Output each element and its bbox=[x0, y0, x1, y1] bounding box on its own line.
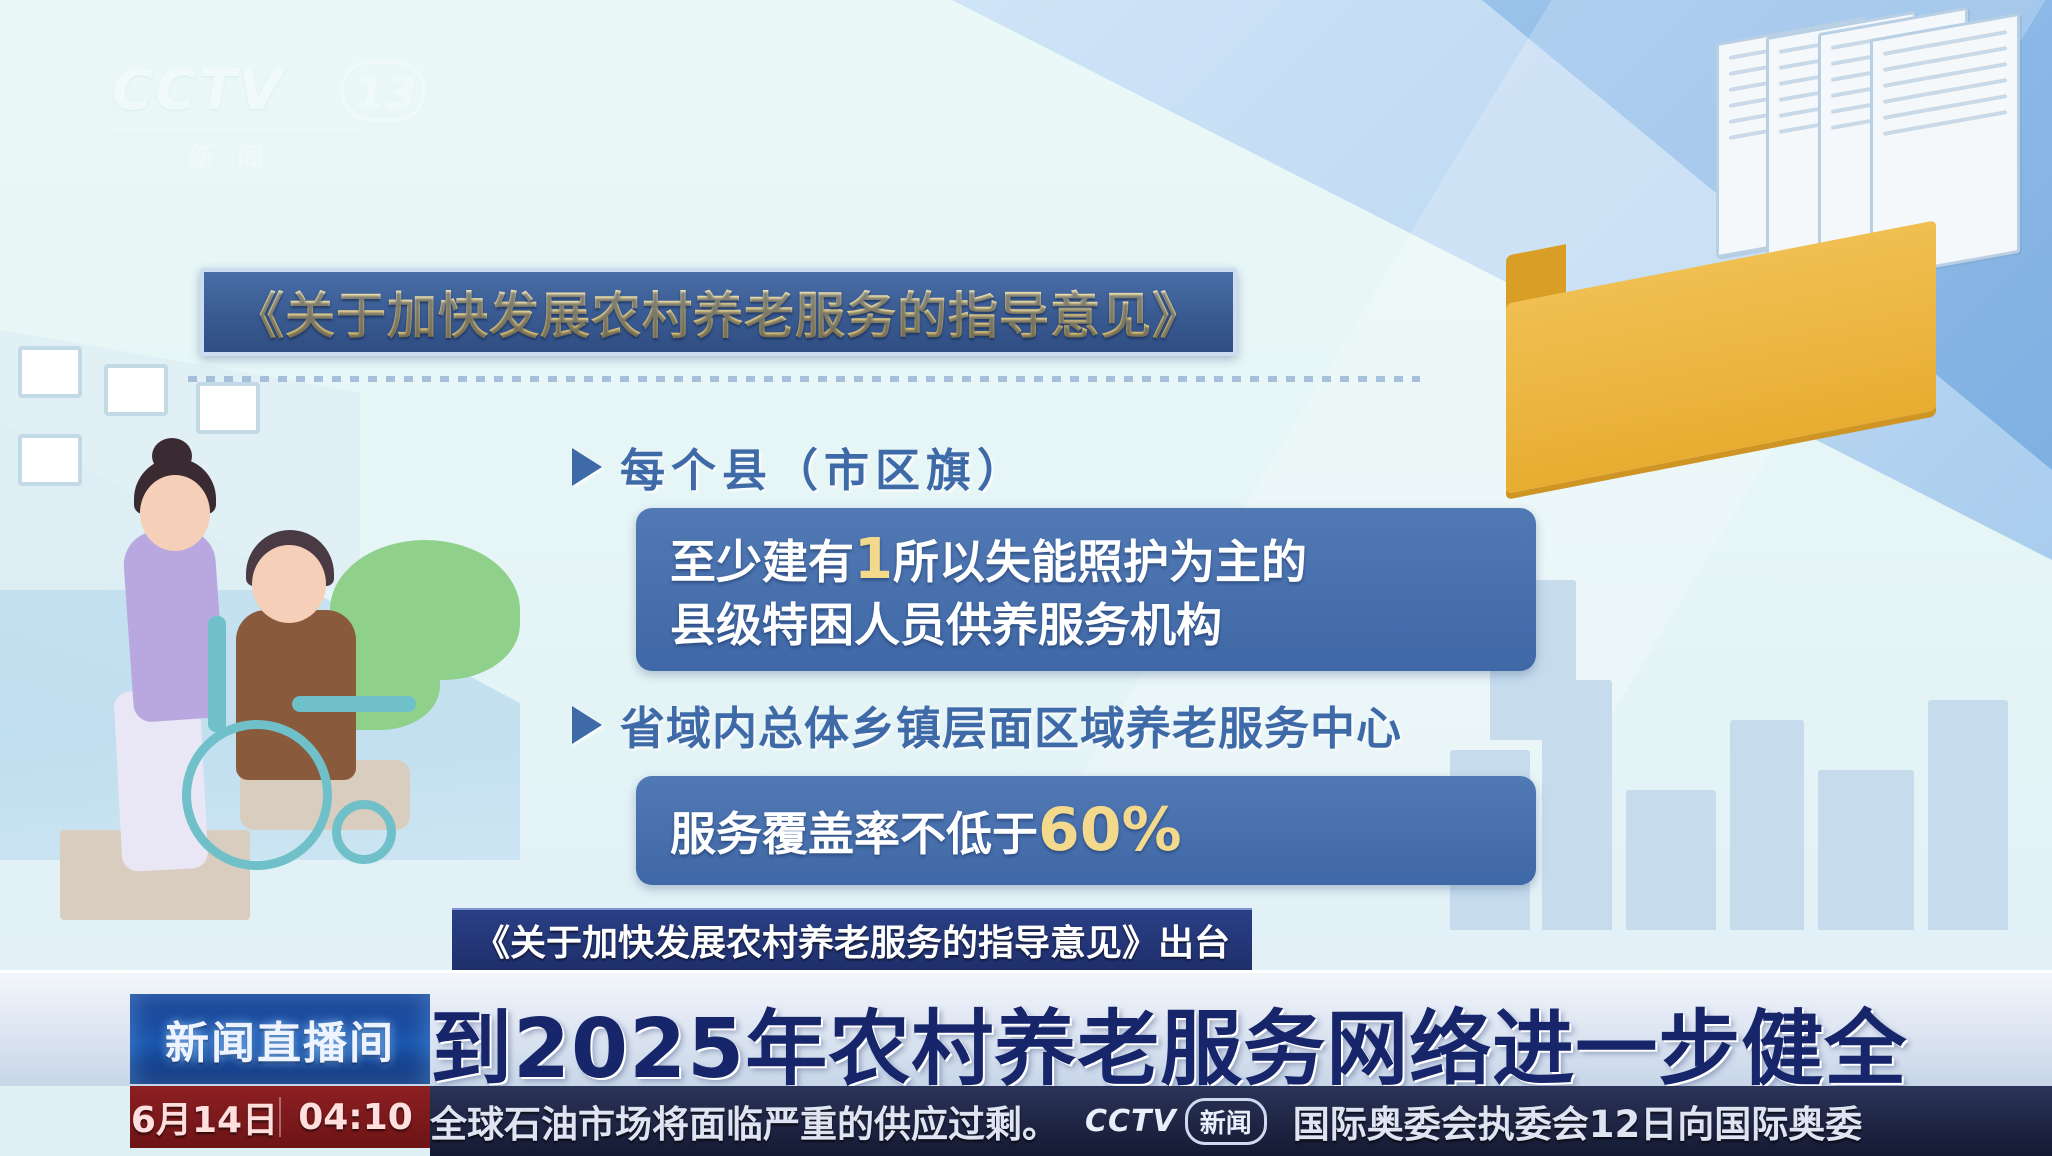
fact-line-1a: 至少建有1所以失能照护为主的 bbox=[670, 524, 1502, 596]
program-name-badge: 新闻直播间 bbox=[130, 994, 430, 1084]
watermark-channel-number: 13 bbox=[355, 68, 416, 119]
news-ticker-bar: 全球石油市场将面临严重的供应过剩。 CCTV 新闻 国际奥委会执委会12日向国际… bbox=[430, 1086, 2052, 1156]
triangle-right-icon bbox=[572, 706, 602, 744]
document-box-illustration bbox=[1466, 20, 2026, 490]
fact-box-2: 服务覆盖率不低于60% bbox=[636, 776, 1536, 885]
watermark-subtitle: 新闻 bbox=[112, 136, 362, 175]
wheelchair-wheel bbox=[182, 720, 332, 870]
lower-third-subheadline-bar: 《关于加快发展农村养老服务的指导意见》出台 bbox=[452, 908, 1252, 970]
broadcast-screenshot: CCTV 13 新闻 《关于加快发展农村养老服务的指导意见》 每个县（市区旗） … bbox=[0, 0, 2052, 1156]
skyline-group bbox=[1450, 600, 2050, 930]
bullet-label-1: 每个县（市区旗） bbox=[620, 434, 1028, 499]
watermark-underline bbox=[112, 127, 362, 131]
caregiver-hair-bun bbox=[152, 438, 192, 474]
bullet-row-1: 每个县（市区旗） bbox=[572, 434, 1028, 499]
ticker-item-2: 国际奥委会执委会12日向国际奥委 bbox=[1293, 1094, 1863, 1148]
picture-frame bbox=[18, 346, 82, 398]
city-building bbox=[1818, 770, 1914, 930]
title-dotted-divider bbox=[188, 376, 1420, 382]
broadcast-date: 6月14日 bbox=[130, 1091, 279, 1143]
fact-1b-text: 县级特困人员供养服务机构 bbox=[670, 598, 1222, 652]
fact-1a-pre: 至少建有 bbox=[670, 535, 854, 589]
ticker-logo-pill-text: 新闻 bbox=[1185, 1098, 1267, 1145]
wheelchair-handle bbox=[208, 616, 226, 732]
wheelchair-armrest bbox=[292, 696, 416, 712]
broadcast-time: 04:10 bbox=[281, 1097, 430, 1138]
bullet-row-2: 省域内总体乡镇层面区域养老服务中心 bbox=[572, 692, 1402, 757]
wheelchair-wheel-small bbox=[332, 800, 396, 864]
city-building bbox=[1730, 720, 1804, 930]
box-front-panel bbox=[1506, 220, 1936, 494]
picture-frame bbox=[18, 434, 82, 486]
ticker-logo-cctv-text: CCTV bbox=[1085, 1104, 1177, 1139]
lower-third-headline-text: 到2025年农村养老服务网络进一步健全 bbox=[430, 982, 1907, 1101]
elderly-care-illustration bbox=[0, 330, 520, 950]
policy-title-text: 《关于加快发展农村养老服务的指导意见》 bbox=[234, 276, 1203, 348]
picture-frame bbox=[196, 382, 260, 434]
city-building bbox=[1928, 700, 2008, 930]
city-building bbox=[1542, 680, 1612, 930]
policy-title-band: 《关于加快发展农村养老服务的指导意见》 bbox=[200, 268, 1237, 356]
elder-head bbox=[252, 545, 326, 623]
fact-2a-pre: 服务覆盖率不低于 bbox=[670, 807, 1038, 861]
fact-1a-post: 所以失能照护为主的 bbox=[893, 535, 1307, 589]
triangle-right-icon bbox=[572, 448, 602, 486]
caregiver-head bbox=[140, 475, 210, 551]
cctv-channel-watermark: CCTV 13 新闻 bbox=[112, 58, 402, 168]
fact-box-1: 至少建有1所以失能照护为主的 县级特困人员供养服务机构 bbox=[636, 508, 1536, 671]
bullet-label-2: 省域内总体乡镇层面区域养老服务中心 bbox=[620, 692, 1402, 757]
ticker-item-1: 全球石油市场将面临严重的供应过剩。 bbox=[430, 1094, 1059, 1148]
date-time-bar: 6月14日 04:10 bbox=[130, 1086, 430, 1148]
picture-frame bbox=[104, 364, 168, 416]
city-building bbox=[1626, 790, 1716, 930]
fact-line-2a: 服务覆盖率不低于60% bbox=[670, 792, 1502, 869]
program-name-text: 新闻直播间 bbox=[165, 1007, 395, 1071]
fact-line-1b: 县级特困人员供养服务机构 bbox=[670, 596, 1502, 655]
cctv-news-icon: CCTV 新闻 bbox=[1085, 1098, 1267, 1145]
lower-third-subheadline-text: 《关于加快发展农村养老服务的指导意见》出台 bbox=[474, 914, 1230, 966]
fact-2a-number: 60% bbox=[1038, 795, 1182, 865]
fact-1a-number: 1 bbox=[854, 527, 893, 592]
